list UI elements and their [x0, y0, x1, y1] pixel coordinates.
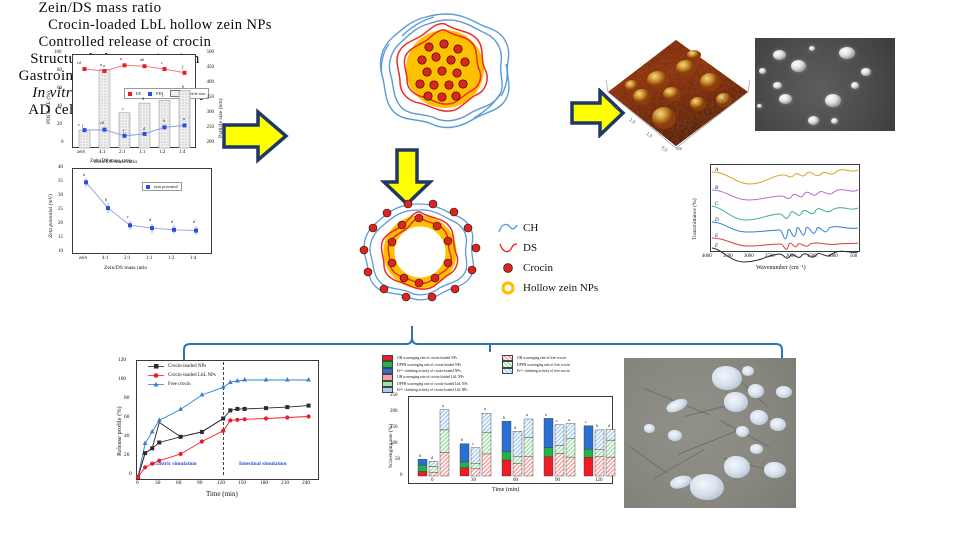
x-tick: zein [79, 256, 87, 261]
ftir-trace-E [712, 238, 858, 249]
svg-text:a: a [568, 417, 570, 422]
x-tick: 500 [850, 254, 857, 259]
legend-item-hollow-zein: Hollow zein NPs [497, 278, 647, 298]
cell-body [690, 474, 724, 500]
svg-text:a: a [526, 412, 528, 417]
svg-text:d: d [608, 423, 611, 428]
svg-text:a: a [442, 403, 444, 408]
y-axis-label: Release profile (%) [116, 406, 123, 456]
x-tick: 240 [302, 480, 310, 486]
legend-item-ds: DS [497, 238, 647, 258]
svg-text:d: d [514, 425, 517, 430]
svg-text:a: a [120, 56, 122, 61]
x-tick: 2:1 [124, 256, 130, 261]
x-tick: 60 [176, 480, 181, 486]
x-axis-label: Zein/DS mass ratio [104, 265, 147, 271]
tem-particle [779, 94, 792, 104]
x-tick: 3000 [744, 254, 754, 259]
svg-text:d: d [171, 219, 174, 224]
svg-text:b: b [182, 84, 184, 89]
tem-particle [861, 68, 871, 76]
svg-text:0,5: 0,5 [611, 103, 619, 111]
svg-text:F: F [714, 244, 719, 249]
zeta-series-line [86, 182, 196, 230]
cell-body [750, 444, 763, 454]
svg-text:d: d [142, 96, 145, 101]
tem-particle [791, 60, 806, 72]
ftir-svg: ABC DEF [678, 158, 868, 280]
legend-item-ch: CH [497, 218, 647, 238]
tem-particle [825, 94, 841, 107]
x-tick: 210 [281, 480, 289, 486]
svg-text:f: f [82, 123, 84, 128]
zeta-series-markers [84, 180, 198, 232]
legend-label-hollow-zein: Hollow zein NPs [523, 282, 598, 294]
svg-text:d: d [193, 219, 196, 224]
x-tick: 60 [513, 478, 518, 483]
x-tick: 2:1 [119, 150, 125, 155]
x-tick: 1:4 [190, 256, 196, 261]
ee-pdi-size-chart: EE PDI Particle size 100 80 60 40 20 0 5… [32, 42, 222, 174]
legend-label-ch: CH [523, 222, 538, 234]
svg-text:c: c [161, 60, 163, 65]
x-tick: 120 [595, 478, 603, 483]
cell-body [764, 462, 786, 478]
ad-cell-microscopy [624, 358, 796, 508]
ftir-trace-C [712, 206, 858, 220]
cell-body [724, 456, 750, 478]
svg-text:E: E [714, 234, 718, 239]
ch-curve-icon [497, 221, 519, 235]
x-tick: 4000 [702, 254, 712, 259]
svg-text:C: C [715, 202, 719, 207]
x-tick: 1500 [807, 254, 817, 259]
ee-series-markers [83, 63, 187, 75]
release-svg: Gastric simulation Intestinal simulation [104, 352, 329, 512]
y-axis-label: Scavenging rate (%) [388, 424, 394, 468]
neurite [678, 428, 743, 455]
cell-body [668, 430, 682, 441]
y-axis-label: PDI & EE (%) [46, 91, 52, 124]
svg-text:a: a [103, 63, 105, 68]
x-tick: 1:2 [168, 256, 174, 261]
svg-text:e: e [78, 122, 80, 127]
x-tick: 1:1 [146, 256, 152, 261]
afm-3d-topography: 0,5 1,0 1,5 2,0 um 1,5 1,0 0,5 [598, 22, 758, 167]
x-tick: 180 [260, 480, 268, 486]
x-tick: 4:1 [102, 256, 108, 261]
crocin-loaded-lbl-particle-diagram [356, 6, 536, 136]
svg-text:b: b [105, 197, 107, 202]
svg-text:b: b [503, 415, 505, 420]
svg-text:a: a [545, 412, 547, 417]
tem-particle [808, 116, 819, 125]
x-tick: zein [77, 150, 85, 155]
ftir-trace-D [712, 222, 858, 239]
tem-particle [839, 47, 855, 59]
cell-body [748, 384, 764, 398]
svg-text:a: a [83, 172, 85, 177]
svg-text:d: d [149, 217, 152, 222]
svg-text:cd: cd [77, 60, 82, 65]
legend-label-ds: DS [523, 242, 537, 254]
svg-text:c: c [585, 419, 587, 424]
x-tick: 2000 [786, 254, 796, 259]
svg-text:1,0: 1,0 [628, 117, 636, 125]
x-tick: 30 [471, 478, 476, 483]
x-tick: 30 [155, 480, 160, 486]
cell-body [776, 386, 792, 398]
x-tick: 1000 [828, 254, 838, 259]
tem-particle [831, 118, 838, 124]
ftir-trace-B [712, 190, 858, 200]
afm-svg: 0,5 1,0 1,5 2,0 um 1,5 1,0 0,5 [598, 22, 758, 167]
arrow-right-1 [222, 108, 290, 164]
tem-micrograph [755, 38, 895, 131]
cell-body [742, 366, 754, 376]
svg-text:a: a [100, 62, 102, 67]
annotation-intestinal: Intestinal simulation [239, 461, 286, 467]
particle-svg [356, 6, 536, 136]
hollow-zein-ring-icon [497, 280, 519, 296]
svg-text:f: f [182, 64, 184, 69]
svg-text:b: b [461, 437, 463, 442]
caption-zein-ds: Zein/DS mass ratio [0, 0, 200, 17]
chart-svg: cdaa abcf ecdf dba fae dcb [32, 42, 222, 174]
svg-text:ab: ab [140, 57, 144, 62]
ftir-chart: ABC DEF 4000 3500 3000 2500 2000 1500 10… [678, 158, 868, 280]
tem-particle [759, 68, 766, 74]
cell-body [750, 410, 768, 425]
ftir-trace-A [712, 170, 858, 184]
x-tick: 0 [136, 480, 139, 486]
y-axis-label: Transmittance (%) [692, 198, 698, 240]
svg-text:B: B [715, 186, 718, 191]
crocin-dot-icon [497, 261, 519, 275]
svg-text:c: c [556, 418, 558, 423]
x-tick: 90 [555, 478, 560, 483]
tem-particle [851, 82, 859, 89]
x-axis-label: Time (min) [206, 490, 238, 498]
cell-body [712, 366, 742, 390]
svg-text:b: b [419, 453, 421, 458]
caption-top-particle: Crocin-loaded LbL hollow zein NPs [0, 17, 320, 34]
cell-body [736, 426, 749, 437]
x-tick: 1:2 [159, 150, 165, 155]
svg-text:e: e [122, 106, 124, 111]
x-tick: 0 [431, 478, 434, 483]
svg-text:c: c [127, 214, 129, 219]
cell-body [770, 418, 786, 431]
cell-body [724, 392, 748, 412]
x-tick: 4:1 [99, 150, 105, 155]
antioxidant-chart: OH scavenging rate of crocin-loaded NPs … [374, 352, 619, 512]
tem-particle [757, 104, 762, 108]
neurite [630, 446, 668, 474]
release-profile-chart: Crocin-loaded NPs Crocin-loaded LbL NPs … [104, 352, 329, 512]
svg-text:a: a [183, 116, 185, 121]
cell-body [644, 424, 655, 433]
svg-text:c: c [472, 441, 474, 446]
svg-text:d: d [431, 455, 434, 460]
svg-text:1,5: 1,5 [645, 131, 653, 139]
annotation-gastric: Gastric simulation [154, 461, 197, 467]
controlled-release-particle-diagram [340, 190, 500, 310]
particle-svg [340, 190, 500, 310]
particle-legend: CH DS Crocin Hollow zein NPs [497, 218, 647, 298]
tem-particle [809, 46, 815, 51]
y-axis-label: Zeta potential (mV) [48, 194, 54, 238]
svg-text:b: b [163, 118, 165, 123]
legend-label-crocin: Crocin [523, 262, 553, 274]
x-axis-label: Time (min) [492, 487, 519, 493]
x-tick: 3500 [723, 254, 733, 259]
tem-particle [773, 50, 786, 60]
x-tick: 90 [197, 480, 202, 486]
x-tick: 120 [217, 480, 225, 486]
zeta-potential-chart: Zein/DS mass ratio zeta potential 40 35 … [32, 158, 222, 280]
svg-text:D: D [714, 218, 719, 223]
legend-item-crocin: Crocin [497, 258, 647, 278]
svg-text:um: um [676, 146, 683, 151]
x-tick: 1:4 [179, 150, 185, 155]
pdi-series-markers [83, 123, 187, 137]
svg-text:2,0: 2,0 [660, 145, 668, 153]
x-tick: 150 [238, 480, 246, 486]
svg-text:b: b [596, 423, 598, 428]
tem-particle [773, 82, 782, 89]
svg-text:c: c [162, 93, 164, 98]
x-tick: 1:1 [139, 150, 145, 155]
svg-text:a: a [484, 406, 486, 411]
x-tick: 2500 [765, 254, 775, 259]
released-crocin-particles [360, 200, 480, 301]
particle-size-bars [79, 70, 190, 148]
chart-svg: abc ddd [32, 158, 222, 280]
ds-curve-icon [497, 241, 519, 255]
x-axis-label: Wavenumber (cm⁻¹) [756, 264, 806, 271]
svg-text:A: A [714, 168, 719, 173]
